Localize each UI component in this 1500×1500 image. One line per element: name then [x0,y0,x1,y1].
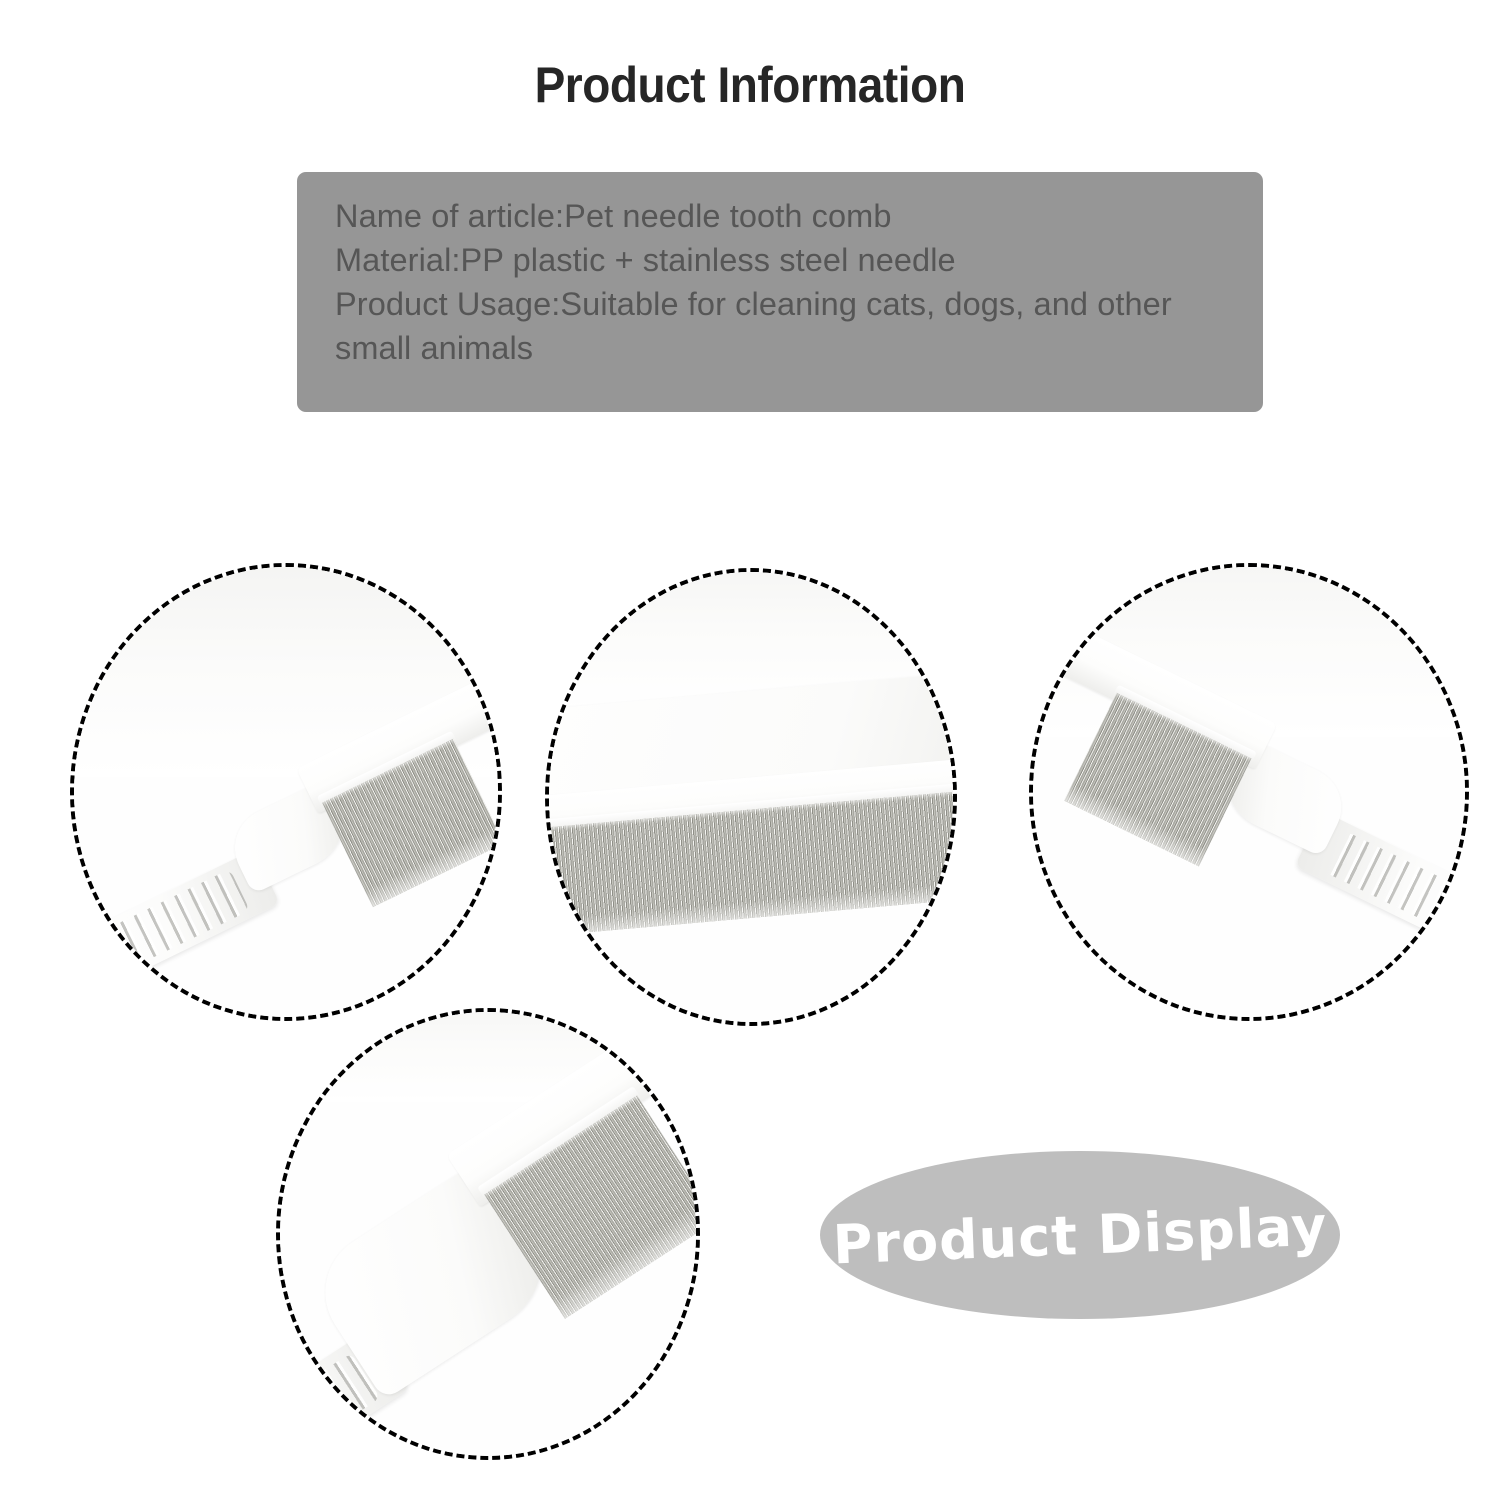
photo-4-plate [280,1012,696,1456]
info-line-name-of-article: Name of article:Pet needle tooth comb [335,194,1233,238]
photo-2-comb [549,642,953,1002]
product-photo-2 [545,568,957,1026]
product-info-panel: Name of article:Pet needle tooth comb Ma… [297,172,1263,412]
product-information-page: Product Information Name of article:Pet … [0,0,1500,1500]
photo-1-plate [74,567,498,1017]
info-line-material: Material:PP plastic + stainless steel ne… [335,238,1233,282]
info-line-product-usage: Product Usage:Suitable for cleaning cats… [335,282,1233,370]
page-title: Product Information [60,56,1440,114]
product-display-label: Product Display [817,1141,1343,1329]
product-photo-1 [70,563,502,1021]
product-photo-3 [1029,563,1469,1021]
product-photo-4 [276,1008,700,1460]
photo-3-plate [1033,567,1465,1017]
comb-grip-ribs [74,869,250,987]
comb-grip-ribs [1325,831,1465,954]
photo-2-plate [549,572,953,1022]
product-display-badge: Product Display [820,1151,1340,1319]
